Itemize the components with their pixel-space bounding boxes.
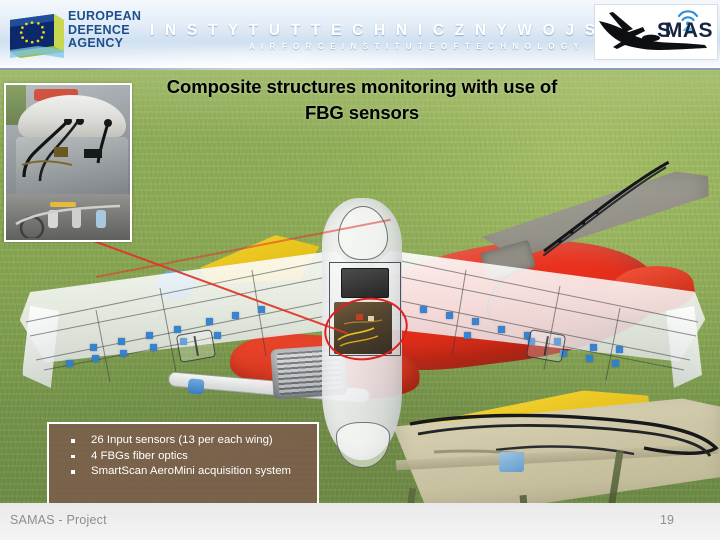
eu-flag-icon (8, 10, 66, 60)
sensor-marker (586, 355, 593, 362)
sensor-marker (66, 360, 73, 367)
sensor-marker (206, 318, 213, 325)
specifications-list: 26 Input sensors (13 per each wing) 4 FB… (55, 433, 307, 479)
institute-title-block: I N S T Y T U T T E C H N I C Z N Y W O … (150, 22, 620, 51)
sensor-marker (232, 312, 239, 319)
specifications-callout-box: 26 Input sensors (13 per each wing) 4 FB… (47, 422, 319, 503)
page-title: Composite structures monitoring with use… (104, 74, 620, 126)
samas-wordmark: MAS (665, 19, 713, 43)
page-title-line-1: Composite structures monitoring with use… (104, 74, 620, 100)
eda-line-1: EUROPEAN (68, 10, 141, 24)
eda-line-2: DEFENCE (68, 24, 141, 38)
sensor-marker (120, 350, 127, 357)
uav-field-photograph: 26 Input sensors (13 per each wing) 4 FB… (0, 70, 720, 503)
slide-header-band: EUROPEAN DEFENCE AGENCY I N S T Y T U T … (0, 0, 720, 70)
sensor-marker (612, 360, 619, 367)
eda-line-3: AGENCY (68, 37, 141, 51)
slide-footer: SAMAS - Project 19 (0, 503, 720, 540)
sensor-marker (498, 326, 505, 333)
sensor-marker (118, 338, 125, 345)
sensor-marker (590, 344, 597, 351)
sensor-marker (446, 312, 453, 319)
footer-project-label: SAMAS - Project (10, 513, 107, 527)
cad-display-module (341, 268, 389, 298)
sensor-marker (214, 332, 221, 339)
list-item: SmartScan AeroMini acquisition system (55, 464, 307, 479)
sensor-marker (146, 332, 153, 339)
page-title-line-2: FBG sensors (104, 100, 620, 126)
sensor-marker (420, 306, 427, 313)
footer-page-number: 19 (660, 513, 674, 527)
sensor-marker (472, 318, 479, 325)
sensor-marker (92, 355, 99, 362)
samas-logo: S MAS (594, 4, 718, 60)
european-defence-agency-logo: EUROPEAN DEFENCE AGENCY (8, 8, 136, 64)
institute-title-en: A I R F O R C E I N S T I T U T E O F T … (150, 42, 620, 51)
inset-fittings (10, 194, 126, 238)
sensor-marker (616, 346, 623, 353)
cad-boom-fitting (187, 378, 204, 394)
sensor-marker (90, 344, 97, 351)
sensor-marker (150, 344, 157, 351)
institute-title-pl: I N S T Y T U T T E C H N I C Z N Y W O … (150, 22, 620, 40)
sensor-marker (258, 306, 265, 313)
sensor-marker (464, 332, 471, 339)
eda-wordmark: EUROPEAN DEFENCE AGENCY (68, 10, 141, 51)
presentation-slide: EUROPEAN DEFENCE AGENCY I N S T Y T U T … (0, 0, 720, 540)
sensor-marker (174, 326, 181, 333)
inset-sensor-wiring (12, 119, 128, 193)
list-item: 26 Input sensors (13 per each wing) (55, 433, 307, 448)
list-item: 4 FBGs fiber optics (55, 449, 307, 464)
cad-access-hatch-right (526, 329, 566, 363)
